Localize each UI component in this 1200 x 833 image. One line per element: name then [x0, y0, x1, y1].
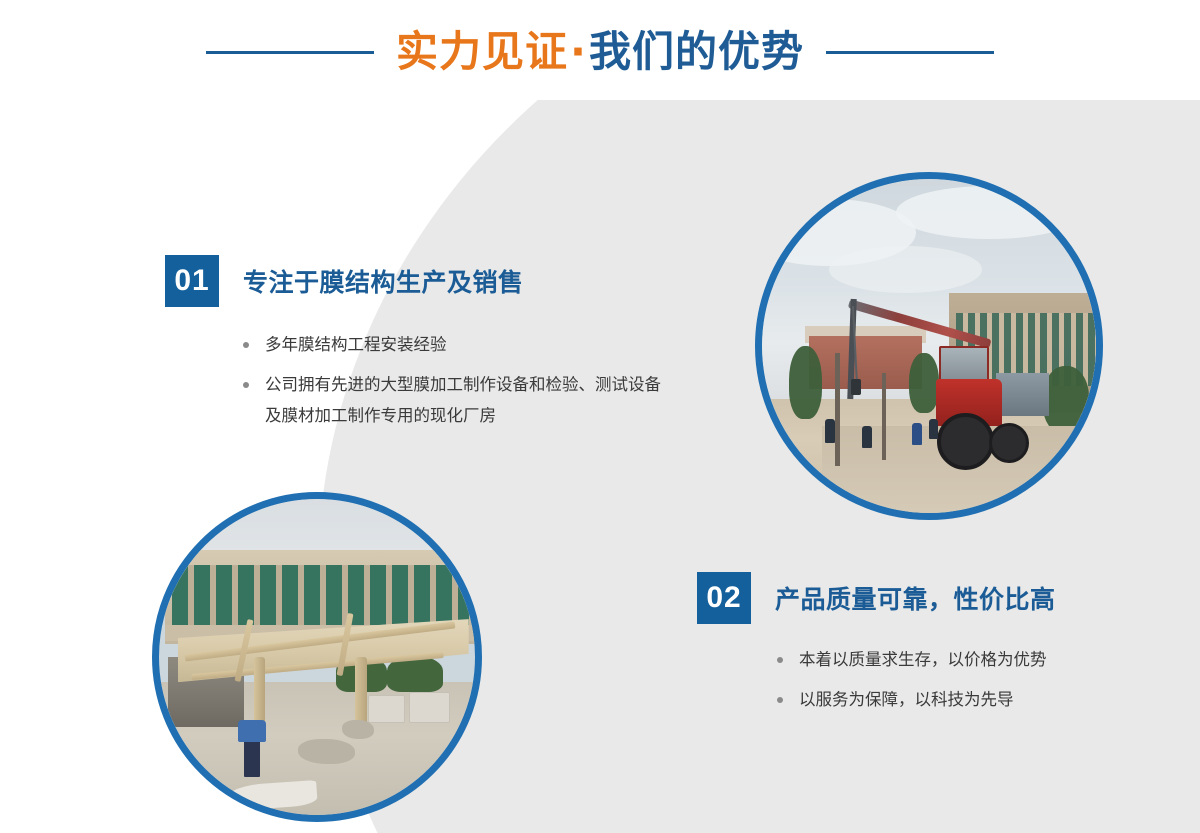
advantage-title-02: 产品质量可靠，性价比高 [775, 580, 1056, 616]
page-title-rest: 我们的优势 [589, 27, 804, 76]
advantage-block-2-header: 02 产品质量可靠，性价比高 [697, 572, 1117, 624]
page-title-highlight: 实力见证 [396, 27, 568, 76]
advantage-block-1-header: 01 专注于膜结构生产及销售 [165, 255, 685, 307]
page-title: 实力见证·我们的优势 [396, 28, 804, 76]
advantage-number-badge-01: 01 [165, 255, 219, 307]
photo-crane-tractor [755, 172, 1103, 520]
page-header: 实力见证·我们的优势 [0, 0, 1200, 110]
list-item: 以服务为保障，以科技为先导 [777, 684, 1117, 715]
list-item: 公司拥有先进的大型膜加工制作设备和检验、测试设备及膜材加工制作专用的现化厂房 [243, 369, 673, 431]
title-rule-left [206, 51, 374, 54]
advantages-page: 实力见证·我们的优势 [0, 0, 1200, 833]
list-item: 多年膜结构工程安装经验 [243, 329, 685, 360]
advantage-title-01: 专注于膜结构生产及销售 [243, 263, 524, 299]
advantage-number-badge-02: 02 [697, 572, 751, 624]
title-rule-right [826, 51, 994, 54]
advantage-block-2: 02 产品质量可靠，性价比高 本着以质量求生存，以价格为优势 以服务为保障，以科… [697, 572, 1117, 724]
page-title-separator: · [568, 27, 589, 76]
advantage-block-1: 01 专注于膜结构生产及销售 多年膜结构工程安装经验 公司拥有先进的大型膜加工制… [165, 255, 685, 440]
list-item: 本着以质量求生存，以价格为优势 [777, 644, 1117, 675]
advantage-bullets-01: 多年膜结构工程安装经验 公司拥有先进的大型膜加工制作设备和检验、测试设备及膜材加… [165, 329, 685, 431]
photo-membrane-carport [152, 492, 482, 822]
section-title: 实力见证·我们的优势 [0, 28, 1200, 76]
advantage-bullets-02: 本着以质量求生存，以价格为优势 以服务为保障，以科技为先导 [697, 644, 1117, 715]
